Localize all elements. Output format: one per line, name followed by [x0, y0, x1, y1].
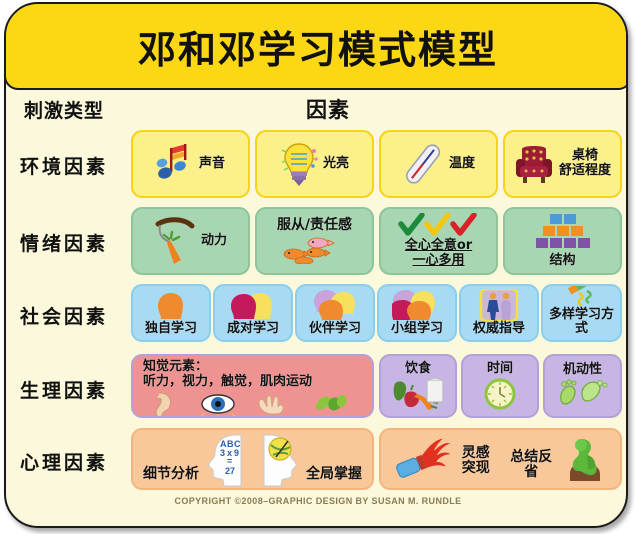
svg-text:=: = — [227, 456, 232, 466]
cell-mobility[interactable]: 机动性 — [543, 354, 622, 418]
cell-perceptual-elements[interactable]: 知觉元素： 听力，视力，触觉，肌肉运动 — [131, 354, 374, 418]
paintbrush-icon — [391, 437, 453, 481]
cell-label: 小组学习 — [391, 322, 443, 337]
armchair-icon — [514, 143, 554, 185]
cell-structure[interactable]: 结构 — [503, 207, 622, 275]
thermometer-icon — [402, 140, 444, 188]
cell-label: 全心全意or 一心多用 — [405, 239, 472, 268]
poster-card: 邓和邓学习模式模型 刺激类型 因素 环境因素 声音 — [4, 2, 628, 528]
row-emotional: 情绪因素 动力 服从/责任感 — [6, 207, 628, 279]
cell-label: 细节分析 — [143, 467, 199, 483]
cell-learn-with-partner[interactable]: 伙伴学习 — [295, 284, 375, 342]
three-heads-icon — [311, 289, 359, 321]
cell-seating-comfort[interactable]: 桌椅 舒适程度 — [503, 130, 622, 198]
row-social: 社会因素 独自学习 成对学习 — [6, 284, 628, 346]
cell-label: 多样学习方式 — [543, 308, 620, 337]
cell-temperature[interactable]: 温度 — [379, 130, 498, 198]
cell-time[interactable]: 时间 — [461, 354, 539, 418]
cell-label: 服从/责任感 — [277, 218, 352, 234]
thinker-statue-icon — [560, 433, 610, 485]
carrot-stick-icon — [154, 216, 196, 266]
global-group: 全局掌握 — [253, 431, 367, 487]
row-label-social: 社会因素 — [20, 302, 108, 329]
lightbulb-icon — [280, 140, 318, 188]
cell-label: 成对学习 — [227, 322, 279, 337]
title-banner: 邓和邓学习模式模型 — [4, 2, 628, 90]
cell-impulsive-reflective[interactable]: 灵感突现 总结反省 — [379, 428, 622, 490]
food-icon — [391, 378, 445, 410]
copyright-notice: COPYRIGHT ©2008–GRAPHIC DESIGN BY SUSAN … — [6, 496, 628, 506]
cell-learn-in-pair[interactable]: 成对学习 — [213, 284, 293, 342]
two-people-icon — [479, 289, 519, 321]
cell-authority-guidance[interactable]: 权威指导 — [459, 284, 539, 342]
footprints-icon — [556, 379, 610, 409]
cell-label: 权威指导 — [473, 322, 525, 337]
stimulus-column-header: 刺激类型 — [24, 96, 104, 123]
cell-label: 时间 — [487, 362, 513, 377]
cell-motivation[interactable]: 动力 — [131, 207, 250, 275]
cell-label: 动力 — [201, 234, 227, 249]
svg-text:9: 9 — [234, 448, 239, 458]
cell-label: 灵感突现 — [455, 446, 497, 477]
globe-head-icon — [258, 431, 304, 487]
kite-icon — [561, 284, 603, 307]
music-notes-icon — [156, 142, 194, 186]
factor-column-header: 因素 — [306, 94, 350, 124]
cell-label: 独自学习 — [145, 322, 197, 337]
cell-analytic-global[interactable]: 细节分析 ABC 3x9 =27 — [131, 428, 374, 490]
svg-text:3: 3 — [220, 448, 225, 458]
fish-school-icon — [273, 236, 357, 264]
cell-label: 伙伴学习 — [309, 322, 361, 337]
cell-label: 声音 — [199, 157, 225, 172]
cell-label: 全局掌握 — [306, 467, 362, 483]
page-title: 邓和邓学习模式模型 — [138, 19, 498, 74]
cell-label: 机动性 — [563, 363, 602, 378]
cell-label: 结构 — [549, 254, 575, 269]
row-label-physiological: 生理因素 — [20, 376, 108, 403]
cell-sound[interactable]: 声音 — [131, 130, 250, 198]
row-physiological: 生理因素 知觉元素： 听力，视力，触觉，肌肉运动 — [6, 354, 628, 422]
cell-label: 桌椅 舒适程度 — [559, 149, 611, 178]
one-head-icon — [154, 291, 188, 321]
row-label-emotional: 情绪因素 — [20, 229, 108, 256]
clock-icon — [482, 378, 518, 410]
cell-learn-in-group[interactable]: 小组学习 — [377, 284, 457, 342]
cell-label: 知觉元素： 听力，视力，触觉，肌肉运动 — [133, 360, 312, 389]
checkmarks-icon — [398, 213, 480, 237]
cell-persistence[interactable]: 全心全意or 一心多用 — [379, 207, 498, 275]
row-environment: 环境因素 声音 — [6, 130, 628, 202]
cell-conformity-responsibility[interactable]: 服从/责任感 — [255, 207, 374, 275]
abc-head-icon: ABC 3x9 =27 — [201, 431, 247, 487]
svg-text:27: 27 — [225, 466, 235, 476]
impulsive-group: 灵感突现 — [387, 437, 501, 481]
blocks-pyramid-icon — [528, 214, 598, 252]
two-heads-icon — [230, 291, 276, 321]
row-label-environment: 环境因素 — [20, 152, 108, 179]
cell-varied-methods[interactable]: 多样学习方式 — [541, 284, 622, 342]
cell-diet[interactable]: 饮食 — [379, 354, 457, 418]
group-heads-icon — [392, 289, 442, 321]
row-psychological: 心理因素 细节分析 ABC 3x9 =27 — [6, 428, 628, 494]
row-label-psychological: 心理因素 — [20, 448, 108, 475]
cell-learn-alone[interactable]: 独自学习 — [131, 284, 211, 342]
cell-label: 总结反省 — [505, 450, 559, 481]
reflective-group: 总结反省 — [501, 433, 615, 485]
cell-label: 温度 — [449, 157, 475, 172]
senses-icons — [144, 390, 362, 416]
cell-label: 饮食 — [405, 362, 431, 377]
cell-light[interactable]: 光亮 — [255, 130, 374, 198]
analytic-group: 细节分析 ABC 3x9 =27 — [139, 431, 253, 487]
header-strip: 刺激类型 因素 — [6, 92, 628, 126]
cell-label: 光亮 — [323, 157, 349, 172]
